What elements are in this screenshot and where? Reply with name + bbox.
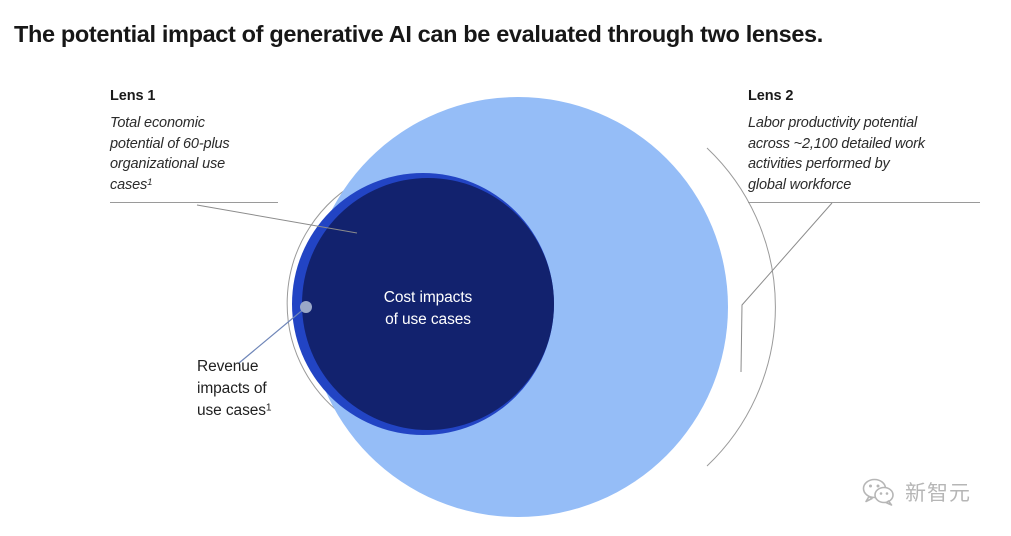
cost-impacts-line-1: Cost impacts [344,287,512,309]
watermark-text: 新智元 [905,477,971,507]
lens1-body: Total economic potential of 60-plus orga… [110,113,278,195]
cost-impacts-label: Cost impacts of use cases [344,287,512,331]
lens1-footnote-marker: 1 [147,177,152,188]
wechat-icon [862,478,896,506]
lens1-rule [110,202,278,203]
lens1-body-line-1: Total economic [110,115,205,131]
lens1-body-line-4: cases [110,177,147,193]
lens2-body-line-1: Labor productivity potential [748,115,917,131]
venn-diagram-figure [0,0,1011,536]
slide-canvas: The potential impact of generative AI ca… [0,0,1011,536]
lens2-body: Labor productivity potential across ~2,1… [748,113,980,195]
lens2-rule [748,202,980,203]
lens2-annotation: Lens 2 Labor productivity potential acro… [748,88,980,203]
revenue-impacts-line-2: impacts of [197,378,309,400]
lens2-body-line-4: global workforce [748,177,851,193]
lens2-heading: Lens 2 [748,88,980,104]
cost-impacts-line-2: of use cases [344,309,512,331]
revenue-impacts-line-1: Revenue [197,356,309,378]
lens2-leader-line [741,203,832,372]
revenue-impacts-line-3: use cases1 [197,400,309,422]
revenue-impacts-label: Revenue impacts of use cases1 [197,356,309,422]
revenue-callout-dot [300,301,312,313]
lens2-body-line-2: across ~2,100 detailed work [748,136,925,152]
lens1-heading: Lens 1 [110,88,278,104]
revenue-callout-line [239,308,305,363]
watermark: 新智元 [862,477,971,507]
lens2-body-line-3: activities performed by [748,156,890,172]
revenue-impacts-line-3-text: use cases [197,402,266,419]
lens1-body-line-2: potential of 60-plus [110,136,230,152]
revenue-footnote-marker: 1 [266,403,272,414]
lens1-annotation: Lens 1 Total economic potential of 60-pl… [110,88,278,203]
lens1-body-line-3: organizational use [110,156,225,172]
